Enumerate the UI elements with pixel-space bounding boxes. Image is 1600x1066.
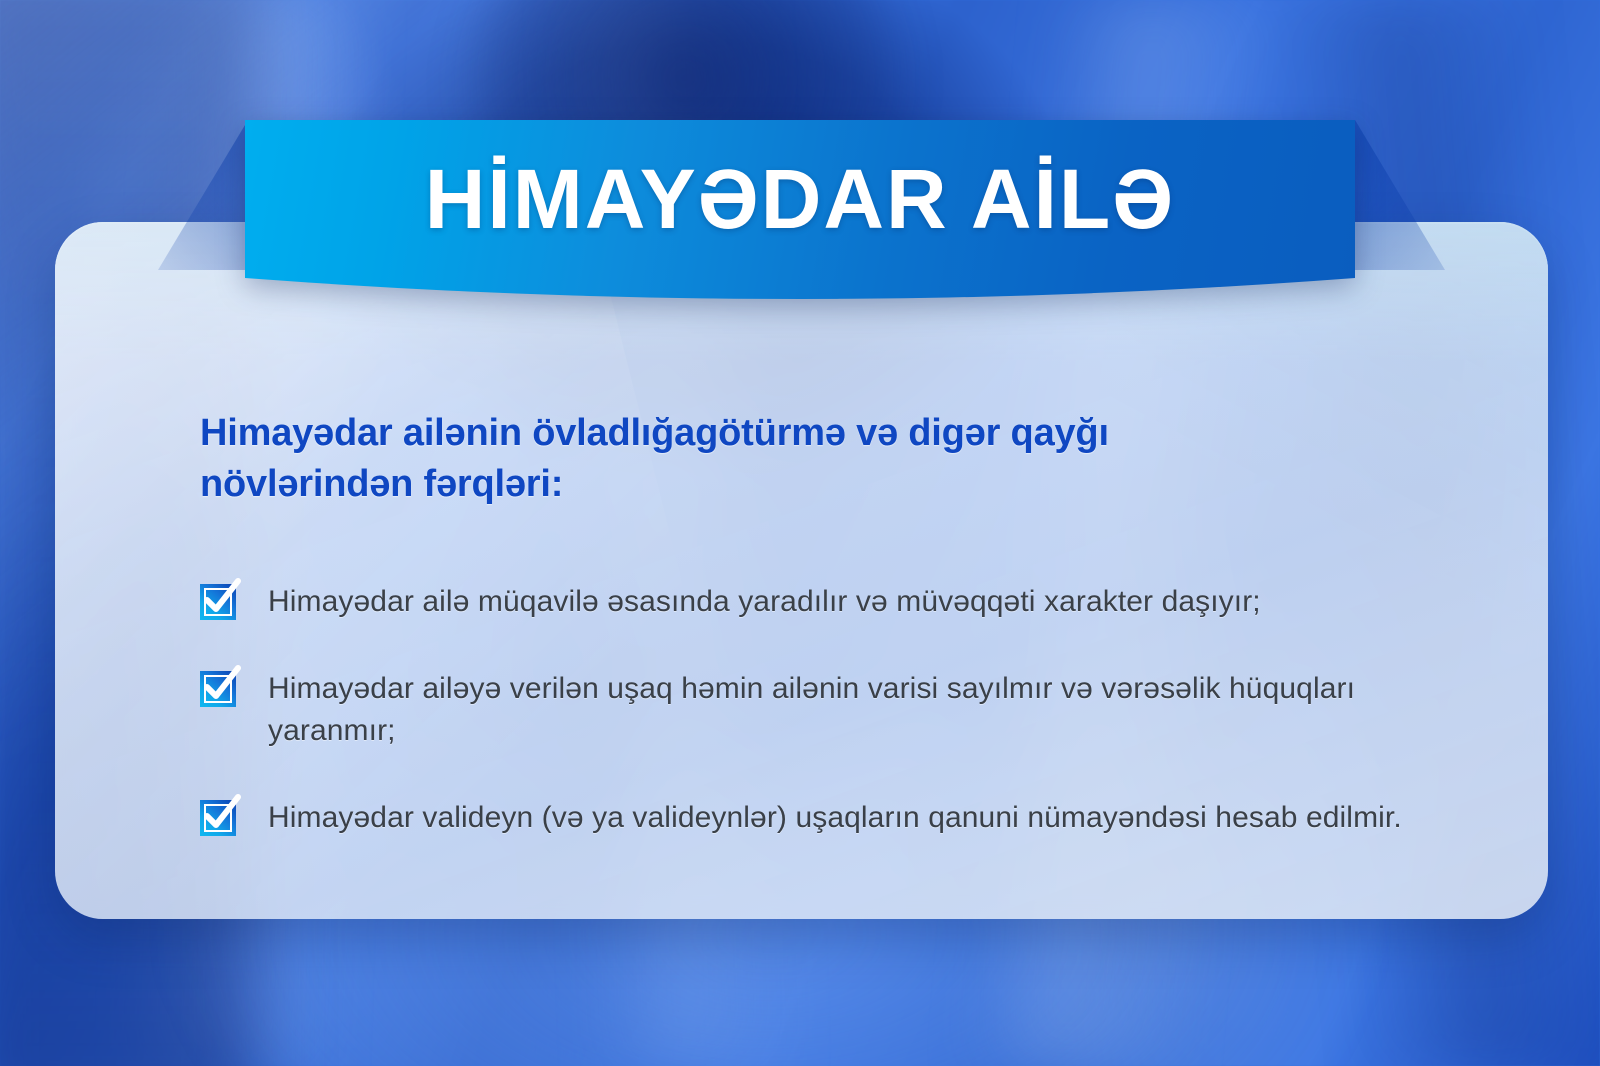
list-item: Himayədar ailəyə verilən uşaq həmin ailə… bbox=[200, 668, 1420, 753]
check-mark-icon bbox=[198, 663, 244, 709]
checkbox-checked-icon bbox=[200, 584, 236, 620]
title-banner: HİMAYƏDAR AİLƏ bbox=[245, 120, 1355, 305]
check-mark-icon bbox=[198, 576, 244, 622]
content-card: Himayədar ailənin övladlığagötürmə və di… bbox=[55, 222, 1548, 919]
list-item-label: Himayədar valideyn (və ya valideynlər) u… bbox=[268, 797, 1402, 840]
bullet-list: Himayədar ailə müqavilə əsasında yaradıl… bbox=[200, 581, 1420, 839]
banner-title-text: HİMAYƏDAR AİLƏ bbox=[245, 120, 1355, 278]
list-item-label: Himayədar ailəyə verilən uşaq həmin ailə… bbox=[268, 668, 1420, 753]
checkbox-checked-icon bbox=[200, 671, 236, 707]
card-content: Himayədar ailənin övladlığagötürmə və di… bbox=[200, 408, 1420, 839]
list-item: Himayədar ailə müqavilə əsasında yaradıl… bbox=[200, 581, 1420, 624]
slide-canvas: Himayədar ailənin övladlığagötürmə və di… bbox=[0, 0, 1600, 1066]
page-title: Himayədar ailənin övladlığagötürmə və di… bbox=[200, 408, 1315, 509]
list-item: Himayədar valideyn (və ya valideynlər) u… bbox=[200, 797, 1420, 840]
check-mark-icon bbox=[198, 792, 244, 838]
list-item-label: Himayədar ailə müqavilə əsasında yaradıl… bbox=[268, 581, 1261, 624]
checkbox-checked-icon bbox=[200, 800, 236, 836]
